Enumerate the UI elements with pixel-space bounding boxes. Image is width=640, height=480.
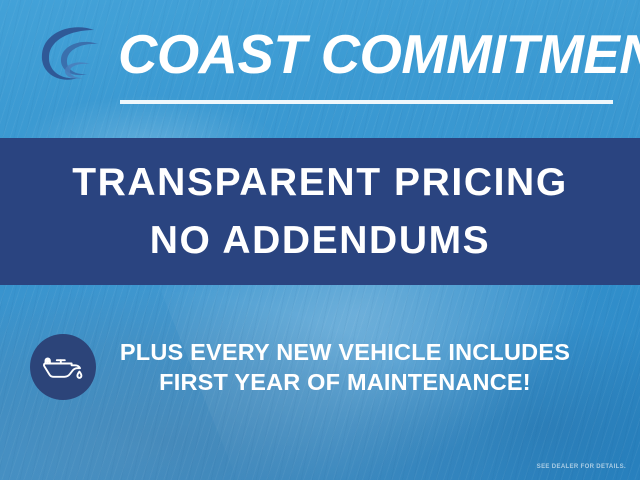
oil-can-icon [30,334,96,400]
perk-text: PLUS EVERY NEW VEHICLE INCLUDES FIRST YE… [96,337,640,397]
claim-band: TRANSPARENT PRICING NO ADDENDUMS [0,138,640,285]
disclaimer-text: SEE DEALER FOR DETAILS. [537,464,626,470]
perk-line-1: PLUS EVERY NEW VEHICLE INCLUDES [96,337,594,367]
claim-line-no-addendums: NO ADDENDUMS [150,212,491,270]
coast-commitment-banner: COAST COMMITMENT TRANSPARENT PRICING NO … [0,0,640,480]
claim-line-transparent-pricing: TRANSPARENT PRICING [72,154,568,212]
page-title: COAST COMMITMENT [118,21,615,87]
banner-header: COAST COMMITMENT [0,0,640,138]
header-divider [120,100,613,104]
coast-wave-logo-icon [32,18,110,94]
perk-row: PLUS EVERY NEW VEHICLE INCLUDES FIRST YE… [0,326,640,408]
perk-line-2: FIRST YEAR OF MAINTENANCE! [96,367,594,397]
